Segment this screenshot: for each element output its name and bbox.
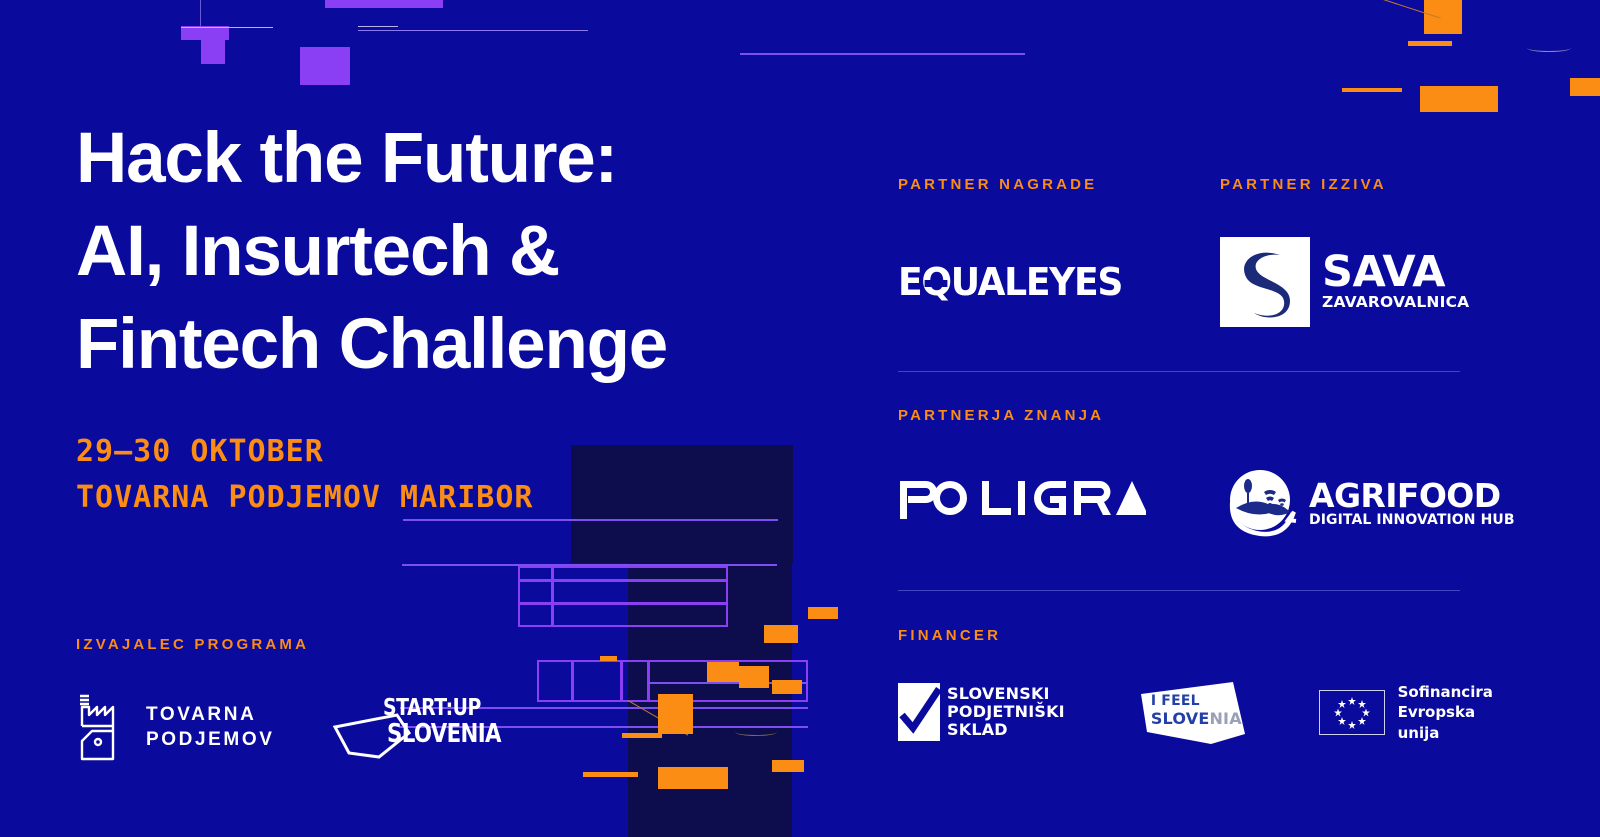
deco-purple-line-top [358,26,398,27]
sava-wordmark: SAVA [1322,253,1469,293]
deco-orange-block-m8 [772,760,804,772]
event-meta: 29–30 OKTOBER TOVARNA PODJEMOV MARIBOR [76,429,836,521]
partner-challenge-label: PARTNER IZZIVA [1220,176,1387,193]
executor-label: IZVAJALEC PROGRAMA [76,636,471,653]
deco-orange-tick-mid [600,656,617,661]
logo-startup-slovenia: START:UP SLOVENIA [331,693,471,761]
logo-poligram [898,475,1220,531]
deco-orange-line-tr2 [1342,88,1402,92]
ifs-line-2a: SLOVE [1151,709,1210,728]
deco-gridbox-9 [621,660,649,702]
title-line-3: Fintech Challenge [76,298,836,391]
event-venue: TOVARNA PODJEMOV MARIBOR [76,475,836,521]
sps-line-1: SLOVENSKI [947,685,1065,703]
deco-gridbox-4 [552,603,728,627]
sava-subtitle: ZAVAROVALNICA [1322,293,1469,311]
partner-row-1-logos: EQUALEYES SAVA ZAVAROVALNICA [898,237,1518,327]
ifs-line-1: I FEEL [1151,693,1200,709]
sava-text-block: SAVA ZAVAROVALNICA [1322,253,1469,311]
agrifood-circle-icon [1220,464,1298,542]
sps-square [898,683,940,741]
divider-1 [898,371,1460,372]
poligram-wordmark [898,475,1146,521]
hero-block: Hack the Future: AI, Insurtech & Fintech… [76,112,836,521]
executor-logos: TOVARNA PODJEMOV START:UP SLOVENIA [76,693,471,761]
agrifood-subtitle: DIGITAL INNOVATION HUB [1309,512,1515,528]
executor-section: IZVAJALEC PROGRAMA TOVARNA PODJEMOV [76,636,471,761]
deco-curve-line-tr [1527,44,1571,52]
factory-head-icon [76,693,132,761]
equaleyes-bar-icon [925,280,948,287]
agrifood-text-block: AGRIFOOD DIGITAL INNOVATION HUB [1309,479,1515,528]
eu-line-1: Sofinancira [1398,682,1518,702]
title-line-1: Hack the Future: [76,112,836,205]
deco-orange-line-tr1 [1408,41,1452,46]
deco-purple-line-top2 [358,30,588,31]
deco-gridbox-6 [552,566,728,581]
partner-row-1-labels: PARTNER NAGRADE PARTNER IZZIVA [898,176,1518,193]
poster-canvas: Hack the Future: AI, Insurtech & Fintech… [0,0,1600,837]
logo-eu-cofunding: Sofinancira Evropska unija [1319,682,1518,743]
eu-text-block: Sofinancira Evropska unija [1398,682,1518,743]
tp-line-1: TOVARNA [146,702,275,727]
deco-gridbox-3 [518,603,553,627]
deco-gridbox-2 [552,580,728,604]
page-title: Hack the Future: AI, Insurtech & Fintech… [76,112,836,391]
deco-thin-line-2 [181,27,273,28]
logo-sava: SAVA ZAVAROVALNICA [1220,237,1469,327]
checkmark-icon [898,683,940,741]
divider-2 [898,590,1460,591]
sps-line-3: SKLAD [947,721,1065,739]
deco-purple-square-2 [300,47,350,85]
deco-orange-line-m1 [622,733,662,738]
deco-curve-line-mid [735,728,777,736]
partner-knowledge-label: PARTNERJA ZNANJA [898,407,1518,424]
partner-row-2-logos: AGRIFOOD DIGITAL INNOVATION HUB [898,464,1518,542]
financer-label: FINANCER [898,627,1518,644]
ifs-line-2: SLOVENIA [1151,709,1242,728]
deco-orange-block-tr2 [1420,86,1498,112]
deco-orange-line-m2 [583,772,638,777]
sava-s-swoosh-icon [1220,237,1310,327]
deco-purple-square-1 [201,26,225,64]
title-line-2: AI, Insurtech & [76,205,836,298]
deco-orange-block-m7 [658,767,728,789]
startup-line-2: SLOVENIA [387,719,501,749]
sps-line-2: PODJETNIŠKI [947,703,1065,721]
deco-orange-block-m2 [764,625,798,643]
tovarna-podjemov-wordmark: TOVARNA PODJEMOV [146,702,275,752]
deco-gridbox-5 [518,566,553,581]
deco-orange-block-m5 [772,680,802,694]
logo-agrifood: AGRIFOOD DIGITAL INNOVATION HUB [1220,464,1515,542]
deco-orange-block-m3 [707,662,739,682]
agrifood-wordmark: AGRIFOOD [1309,479,1515,512]
deco-orange-block-m4 [739,666,769,688]
deco-diagonal-line-tr [1374,0,1460,18]
deco-gridbox-8 [572,660,622,702]
partners-section: PARTNER NAGRADE PARTNER IZZIVA EQUALEYES [898,176,1518,743]
tp-line-2: PODJEMOV [146,727,275,752]
deco-purple-bar-top [325,0,443,8]
deco-purple-line-top3 [740,53,1025,55]
sava-square [1220,237,1310,327]
eu-line-2: Evropska unija [1398,702,1518,743]
logo-equaleyes: EQUALEYES [898,260,1204,304]
event-date: 29–30 OKTOBER [76,429,836,475]
eu-stars-icon [1320,691,1384,734]
startup-line-1: START:UP [383,695,481,721]
deco-orange-block-tr3 [1570,78,1600,96]
logo-tovarna-podjemov: TOVARNA PODJEMOV [76,693,275,761]
logo-slovenski-podjetniski-sklad: SLOVENSKI PODJETNIŠKI SKLAD [898,683,1065,741]
financer-logos: SLOVENSKI PODJETNIŠKI SKLAD I FEEL SLOVE… [898,682,1518,743]
partner-prize-label: PARTNER NAGRADE [898,176,1220,193]
eu-flag-icon [1319,690,1385,735]
deco-gridbox-1 [518,580,553,604]
ifs-line-2b: NIA [1209,709,1241,728]
logo-i-feel-slovenia: I FEEL SLOVENIA [1137,682,1247,742]
deco-orange-block-m6 [658,694,693,734]
sps-wordmark: SLOVENSKI PODJETNIŠKI SKLAD [947,685,1065,740]
deco-gridbox-7 [537,660,573,702]
deco-orange-block-m1 [808,607,838,619]
